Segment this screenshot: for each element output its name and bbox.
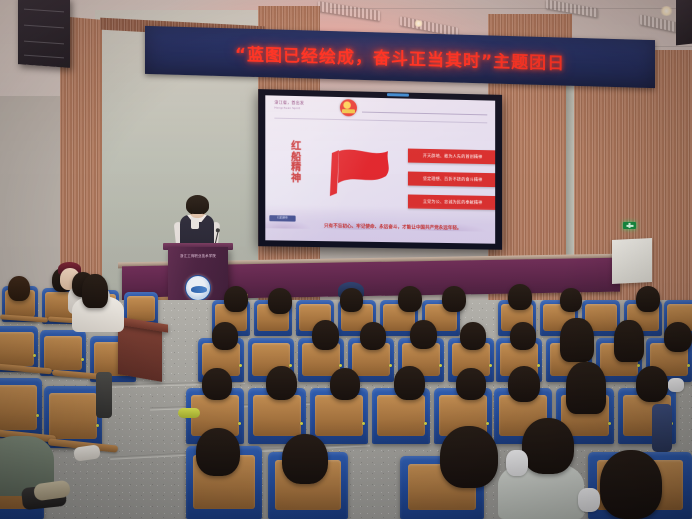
ceiling-downlight bbox=[414, 20, 423, 27]
audience-head bbox=[410, 320, 437, 349]
face-mask bbox=[578, 488, 600, 512]
audience-head bbox=[398, 286, 422, 312]
audience-head bbox=[442, 286, 466, 312]
slide-footer-tag: 红船精神 bbox=[269, 215, 295, 221]
audience-head bbox=[212, 322, 238, 350]
ceiling-downlight bbox=[660, 6, 673, 16]
audience-leg bbox=[96, 372, 112, 418]
audience-head bbox=[202, 368, 232, 400]
auditorium-photo: “蓝图已经绘成，奋斗正当其时”主题团日 浙江省，首出发 Hongchuan Sp… bbox=[0, 0, 692, 519]
presenter-hair bbox=[186, 195, 209, 214]
audience-head bbox=[394, 366, 425, 400]
audience-head bbox=[456, 368, 486, 400]
audience-head bbox=[224, 286, 248, 312]
ceiling-seam bbox=[330, 8, 692, 9]
audience-head bbox=[522, 418, 574, 474]
slide-brand-line1: 浙江省，首出发 bbox=[274, 100, 304, 107]
seat-desk bbox=[118, 322, 162, 382]
screen-brand-label bbox=[387, 93, 409, 97]
audience-leg bbox=[652, 404, 672, 452]
audience-head bbox=[508, 284, 532, 310]
audience-head bbox=[600, 450, 662, 519]
audience-head bbox=[196, 428, 240, 476]
slide-vertical-title: 红船精神 bbox=[290, 142, 303, 184]
audience-head-long-hair bbox=[560, 318, 594, 362]
audience-head bbox=[636, 366, 668, 402]
audience-head bbox=[440, 426, 498, 488]
audience-head bbox=[460, 322, 486, 350]
audience-head bbox=[340, 288, 363, 312]
audience-head bbox=[82, 274, 108, 308]
wall-whiteboard bbox=[612, 238, 652, 284]
presentation-slide: 浙江省，首出发 Hongchuan Spirit 红船精神 开天辟地、敢为人先的… bbox=[265, 95, 495, 243]
slide-point-2: 坚定理想、百折不挠的奋斗精神 bbox=[408, 172, 495, 188]
audience-head bbox=[8, 276, 30, 301]
audience-head-long-hair bbox=[566, 362, 606, 414]
audience-head bbox=[636, 286, 660, 312]
audience-head bbox=[560, 288, 582, 312]
podium-inscription: 浙江工商职业技术学院 bbox=[168, 253, 228, 258]
audience-head bbox=[360, 322, 386, 350]
audience-head bbox=[312, 320, 339, 350]
audience-head bbox=[508, 366, 540, 402]
emergency-exit-sign bbox=[623, 222, 636, 229]
audience-head bbox=[266, 366, 297, 400]
projection-screen: 浙江省，首出发 Hongchuan Spirit 红船精神 开天辟地、敢为人先的… bbox=[258, 89, 502, 250]
audience-head bbox=[510, 322, 536, 350]
audience-shoe bbox=[178, 408, 200, 418]
communist-youth-league-emblem bbox=[340, 99, 357, 116]
slide-point-1: 开天辟地、敢为人先的首创精神 bbox=[408, 149, 495, 165]
auditorium-seat[interactable] bbox=[0, 378, 42, 438]
face-mask bbox=[668, 378, 684, 392]
slide-brand-line2: Hongchuan Spirit bbox=[274, 107, 300, 111]
red-flag-graphic bbox=[326, 145, 398, 198]
audience-head bbox=[282, 434, 328, 484]
school-round-emblem bbox=[185, 275, 211, 301]
face-mask bbox=[506, 450, 528, 476]
audience-head bbox=[268, 288, 292, 314]
audience-head bbox=[664, 322, 692, 352]
wall-loudspeaker bbox=[676, 0, 692, 45]
audience-head bbox=[330, 368, 360, 400]
wall-loudspeaker bbox=[18, 0, 70, 68]
audience-head-long-hair bbox=[614, 320, 644, 362]
